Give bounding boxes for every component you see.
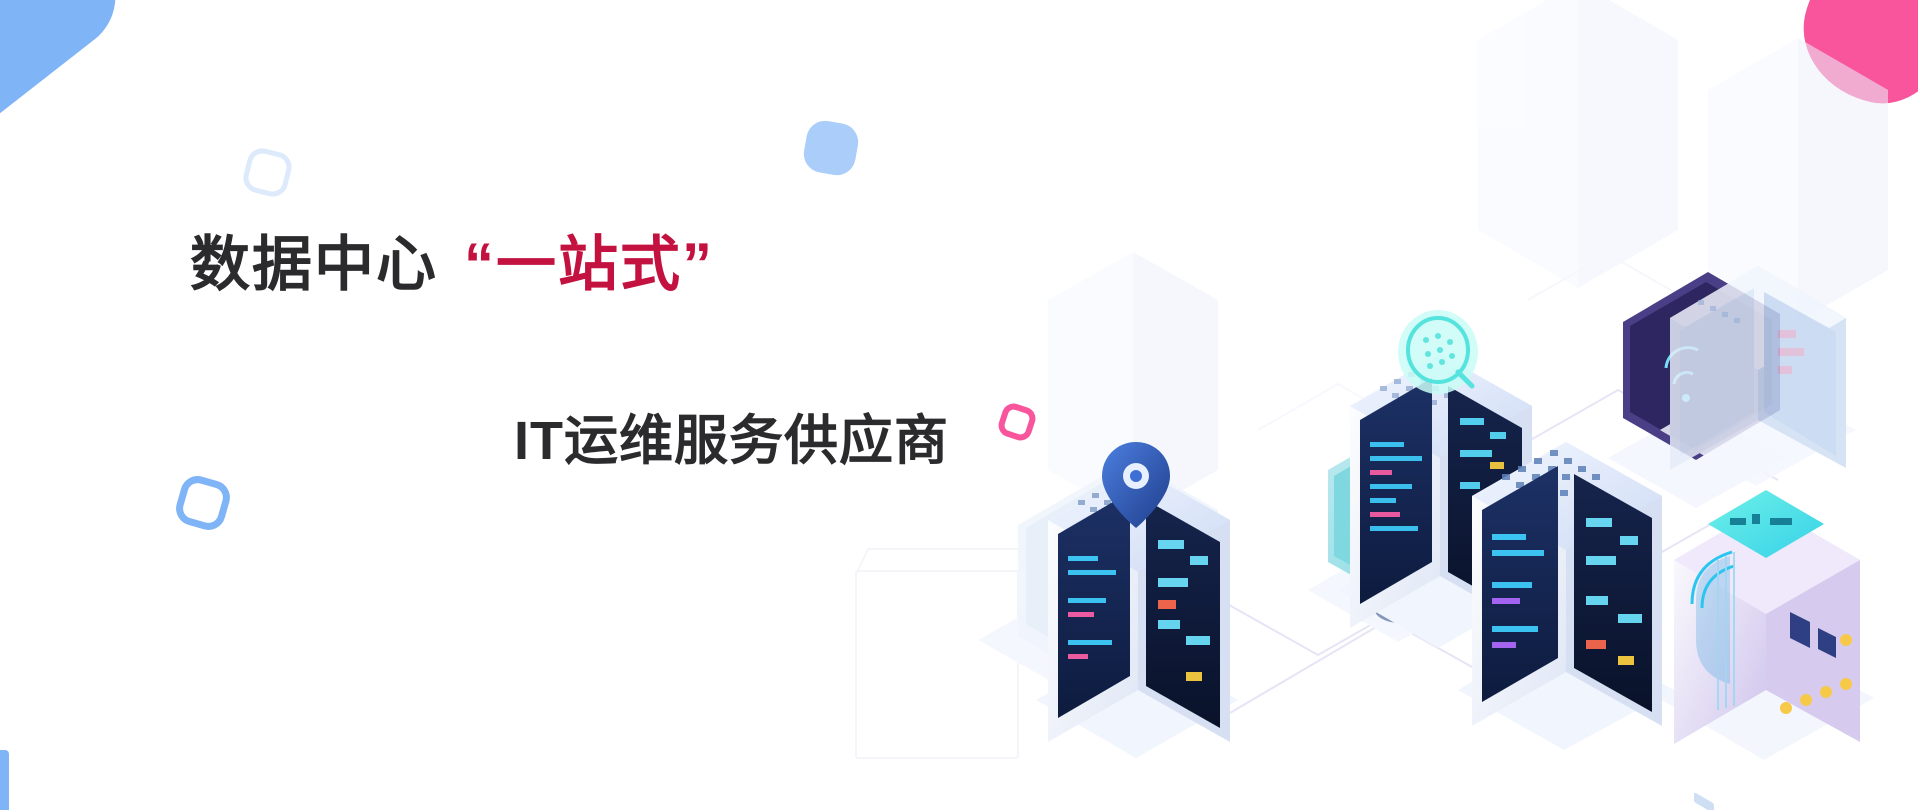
hero-banner: 数据中心“一站式” IT运维服务供应商 <box>0 0 1918 810</box>
search-bubble <box>1398 310 1478 394</box>
headline-highlight-text: 一站式 <box>496 231 682 298</box>
blob-top-left-decoration <box>0 0 137 142</box>
connection-lines <box>1028 390 1778 720</box>
isometric-data-center-illustration <box>918 0 1918 810</box>
blob-top-right-decoration <box>1790 0 1918 116</box>
headline-line-1: 数据中心“一站式” <box>190 232 1050 298</box>
headline-quote-close: ” <box>682 231 714 298</box>
server-rack-right <box>1458 442 1674 750</box>
ring-blue-decoration <box>172 472 234 534</box>
headline-line-2: IT运维服务供应商 <box>514 396 1050 475</box>
ring-faint-blue-decoration <box>240 145 295 200</box>
headline-block: 数据中心“一站式” IT运维服务供应商 <box>190 232 1050 475</box>
ghost-cube-decoration <box>855 570 1019 759</box>
headline-primary-text: 数据中心 <box>190 231 438 298</box>
location-pin <box>1102 442 1170 528</box>
tablet-device <box>1608 272 1786 508</box>
ghost-buildings <box>1048 0 1888 518</box>
laptop-screen <box>1308 418 1498 642</box>
server-cabinet-ghost <box>1660 266 1856 810</box>
coin-token <box>1754 598 1806 662</box>
server-rack-front <box>1036 442 1238 758</box>
headline-quote-open: “ <box>464 231 496 298</box>
strip-bottom-left-decoration <box>0 750 9 810</box>
squircle-filled-blue-decoration <box>801 118 861 178</box>
storage-cabinet <box>1658 490 1874 810</box>
server-rack-middle <box>1338 310 1540 648</box>
